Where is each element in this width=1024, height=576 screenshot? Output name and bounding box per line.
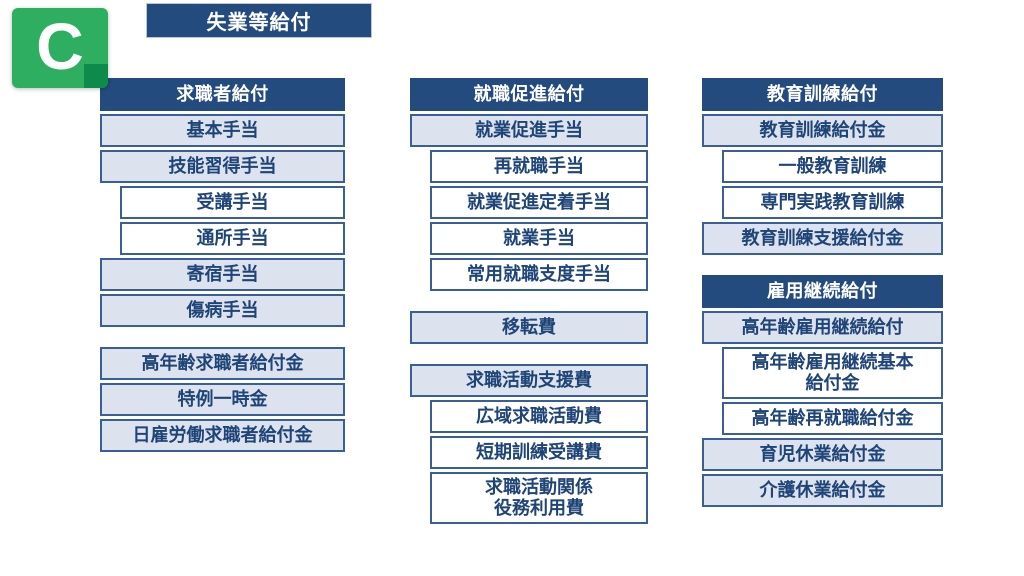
item-box: 高年齢雇用継続給付 [702,311,943,344]
item-box: 基本手当 [100,114,345,147]
diagram-title: 失業等給付 [207,6,312,35]
group-header: 就職促進給付 [410,78,648,111]
column-3: 教育訓練給付教育訓練給付金一般教育訓練専門実践教育訓練教育訓練支援給付金雇用継続… [702,78,943,510]
sub-item-box: 求職活動関係役務利用費 [430,472,648,524]
logo-corner-notch [84,64,108,88]
sub-item-box: 広域求職活動費 [430,400,648,433]
group-header: 求職者給付 [100,78,345,111]
group: 高年齢求職者給付金特例一時金日雇労働求職者給付金 [100,347,345,452]
diagram-title-banner: 失業等給付 [146,3,372,38]
item-box: 傷病手当 [100,294,345,327]
group: 求職活動支援費広域求職活動費短期訓練受講費求職活動関係役務利用費 [410,364,648,524]
item-box: 特例一時金 [100,383,345,416]
item-box: 移転費 [410,311,648,344]
group-header: 雇用継続給付 [702,275,943,308]
group: 移転費 [410,311,648,344]
sub-item-box: 短期訓練受講費 [430,436,648,469]
item-box: 寄宿手当 [100,258,345,291]
item-box: 就業促進手当 [410,114,648,147]
item-box: 技能習得手当 [100,150,345,183]
item-box: 日雇労働求職者給付金 [100,419,345,452]
diagram-canvas: C 失業等給付 求職者給付基本手当技能習得手当受講手当通所手当寄宿手当傷病手当高… [0,0,1024,576]
item-box: 高年齢求職者給付金 [100,347,345,380]
column-1: 求職者給付基本手当技能習得手当受講手当通所手当寄宿手当傷病手当高年齢求職者給付金… [100,78,345,455]
sub-item-box: 専門実践教育訓練 [722,186,943,219]
column-2: 就職促進給付就業促進手当再就職手当就業促進定着手当就業手当常用就職支度手当移転費… [410,78,648,527]
item-box: 教育訓練支援給付金 [702,222,943,255]
group-header: 教育訓練給付 [702,78,943,111]
sub-item-box: 通所手当 [120,222,345,255]
group: 雇用継続給付高年齢雇用継続給付高年齢雇用継続基本給付金高年齢再就職給付金育児休業… [702,275,943,507]
item-box: 教育訓練給付金 [702,114,943,147]
sub-item-box: 高年齢雇用継続基本給付金 [722,347,943,399]
sub-item-box: 常用就職支度手当 [430,258,648,291]
group: 教育訓練給付教育訓練給付金一般教育訓練専門実践教育訓練教育訓練支援給付金 [702,78,943,255]
item-box: 育児休業給付金 [702,438,943,471]
group: 就職促進給付就業促進手当再就職手当就業促進定着手当就業手当常用就職支度手当 [410,78,648,291]
sub-item-box: 就業促進定着手当 [430,186,648,219]
sub-item-box: 高年齢再就職給付金 [722,402,943,435]
sub-item-box: 一般教育訓練 [722,150,943,183]
sub-item-box: 受講手当 [120,186,345,219]
item-box: 求職活動支援費 [410,364,648,397]
sub-item-box: 就業手当 [430,222,648,255]
item-box: 介護休業給付金 [702,474,943,507]
logo-letter: C [36,13,84,79]
sub-item-box: 再就職手当 [430,150,648,183]
group: 求職者給付基本手当技能習得手当受講手当通所手当寄宿手当傷病手当 [100,78,345,327]
